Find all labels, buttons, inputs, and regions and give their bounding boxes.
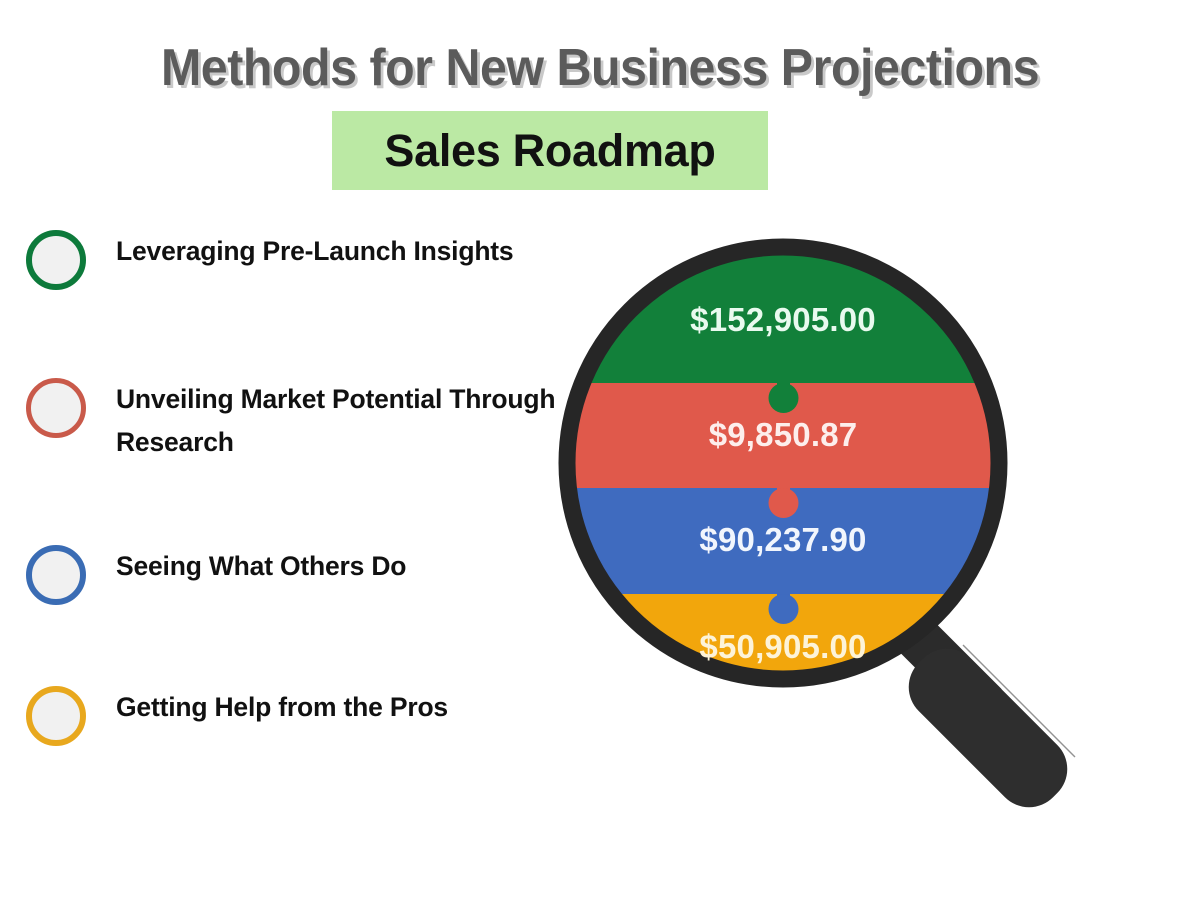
magnifier-chart: $152,905.00 $9,850.87 $90,237.90 $50,905… (555, 235, 1135, 815)
list-item-label: Leveraging Pre-Launch Insights (116, 230, 560, 273)
bullet-circle-icon (26, 230, 86, 290)
bullet-circle-icon (26, 378, 86, 438)
bullet-circle-icon (26, 686, 86, 746)
list-item[interactable]: Unveiling Market Potential Through Resea… (0, 378, 560, 464)
list-item-label: Unveiling Market Potential Through Resea… (116, 378, 560, 464)
list-item-label: Seeing What Others Do (116, 545, 560, 588)
band-value-blue: $90,237.90 (699, 521, 866, 558)
list-item[interactable]: Seeing What Others Do (0, 545, 560, 605)
band-value-green: $152,905.00 (690, 301, 876, 338)
subtitle-text: Sales Roadmap (384, 126, 715, 176)
list-item[interactable]: Getting Help from the Pros (0, 686, 560, 746)
bullet-circle-icon (26, 545, 86, 605)
infographic-canvas: Methods for New Business Projections Sal… (0, 0, 1200, 900)
list-item-label: Getting Help from the Pros (116, 686, 560, 729)
magnifier-handle-icon (893, 613, 1081, 815)
page-title: Methods for New Business Projections (42, 36, 1158, 100)
band-value-red: $9,850.87 (709, 416, 858, 453)
subtitle-banner: Sales Roadmap (332, 111, 768, 190)
band-value-yellow: $50,905.00 (699, 628, 866, 665)
list-item[interactable]: Leveraging Pre-Launch Insights (0, 230, 560, 290)
